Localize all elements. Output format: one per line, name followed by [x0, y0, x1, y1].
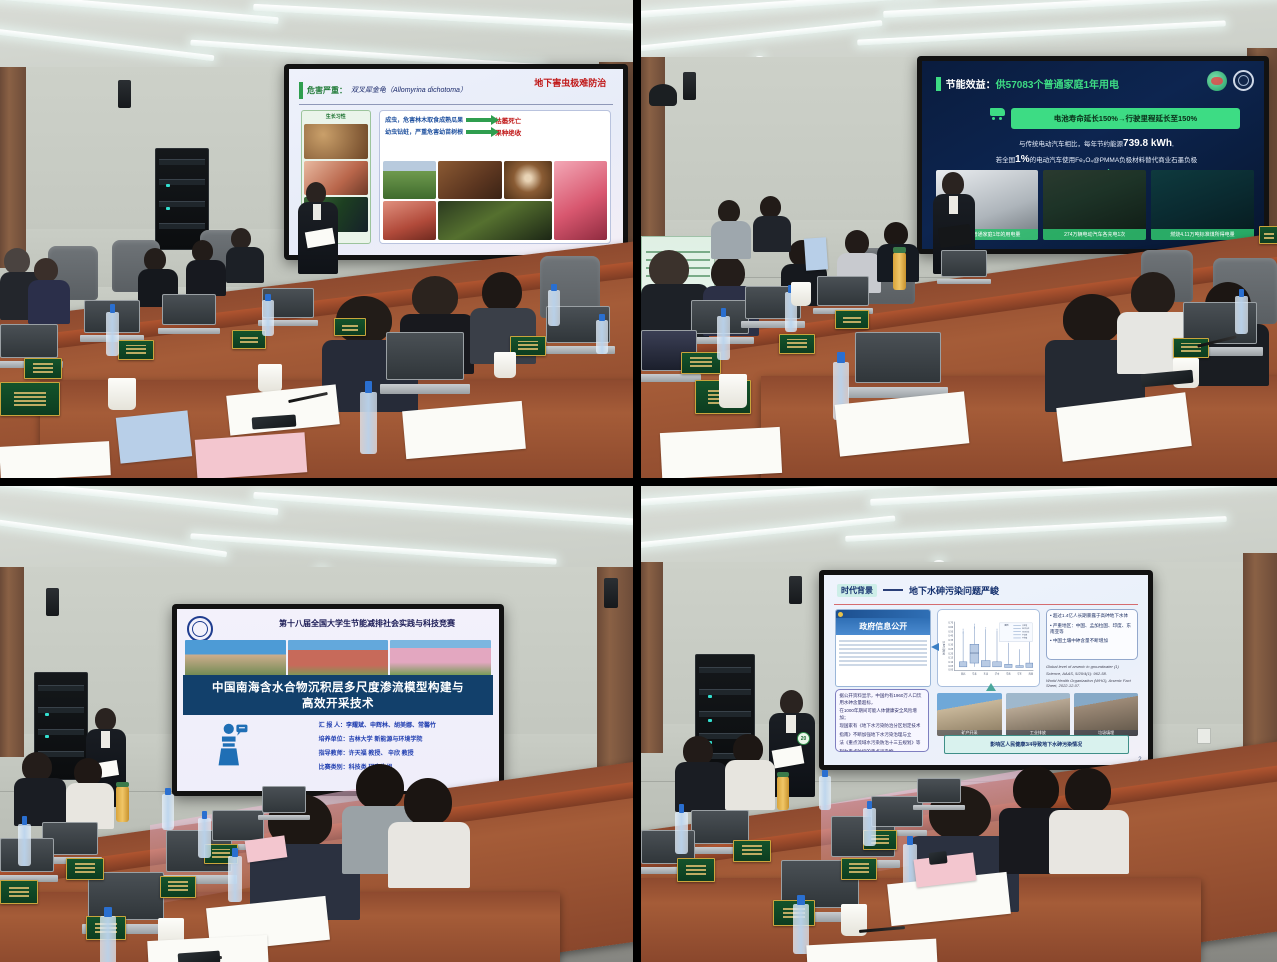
key-claim-pill: 电池寿命延长150%→行驶里程延长至150%: [1011, 108, 1240, 129]
laptop-screen: [871, 796, 923, 827]
svg-text:西南: 西南: [1029, 672, 1034, 676]
body: [1049, 810, 1129, 874]
water-bottle: [360, 392, 377, 454]
photo-larvae-soil: [304, 124, 368, 159]
svg-text:0.70: 0.70: [949, 622, 954, 625]
head: [649, 250, 689, 288]
blue-folder: [804, 237, 828, 270]
nameplate: [160, 876, 196, 898]
slide-header-species: 双叉犀金龟（Allomyrina dichotoma）: [351, 85, 467, 95]
nameplate: [841, 858, 877, 880]
photo-pink-fruit: [554, 161, 607, 240]
slide-header: 时代背景 地下水砷污染问题严峻: [837, 584, 999, 597]
body-line-2-pct: 1%: [1015, 154, 1029, 165]
nameplate: [118, 340, 154, 360]
rack-led: [166, 184, 170, 187]
laptop: [941, 250, 987, 284]
tile-row: 57083个普通家庭1年的用电量 274万辆电动汽车各充电1次 燃烧4.11万吨…: [936, 170, 1254, 240]
svg-text:0.30: 0.30: [949, 644, 954, 647]
photo-roots-damage: [438, 161, 501, 199]
water-bottle: [819, 776, 831, 810]
speaker-at-podium-icon: [216, 722, 250, 768]
collage-panel-top-right: 节能效益：供57083个普通家庭1年用电 电池寿命延长150%→行驶里程延长至1…: [641, 0, 1277, 478]
speaker-box: [118, 80, 131, 108]
shopping-cart-icon: [990, 108, 1008, 120]
presenter-number-badge: 20: [797, 732, 810, 745]
svg-text:华东: 华东: [1018, 672, 1023, 676]
rack-shelf: [699, 667, 750, 673]
head: [711, 256, 745, 290]
head: [404, 778, 452, 826]
text-row: [839, 664, 927, 666]
head: [4, 248, 30, 274]
note-line: 现国家有《地下水污染防治分区划定技术: [839, 723, 925, 730]
campus-photo-row: [185, 640, 491, 676]
body: [725, 760, 775, 810]
laptop: [855, 332, 941, 398]
body-line-2: 若全国1%的电动汽车使用Fe₃O₄@PMMA负极材料替代商业石墨负极: [949, 152, 1243, 168]
svg-text:0.00: 0.00: [949, 669, 954, 672]
policy-note-box: 据公开资料显示，中国约有1960万人口饮用水砷含量超标， 在1000年期间可能人…: [835, 689, 929, 752]
note-line: 指南》不断加强地下水污染治理与立: [839, 732, 925, 739]
wall-switch-plate[interactable]: [1197, 728, 1211, 744]
smartphone: [928, 851, 947, 865]
audience-member: [186, 240, 226, 294]
laptop-screen: [212, 810, 264, 841]
svg-text:华中: 华中: [995, 672, 1000, 676]
head: [74, 758, 102, 786]
body-line-1-pre: 与传统电动汽车相比，每年节约能源: [1019, 141, 1123, 148]
photo-collage: 危害严重： 双叉犀金龟（Allomyrina dichotoma） 地下害虫极难…: [0, 0, 1277, 962]
slide-header-label: 危害严重：: [307, 85, 347, 96]
gov-panel-rows: [836, 635, 930, 671]
rack-shelf: [159, 223, 205, 229]
photo-larva-in-soil: [504, 161, 552, 199]
water-bottle: [198, 818, 211, 858]
laptop-screen: [386, 332, 464, 380]
audience-member: [226, 228, 264, 280]
svg-text:华北: 华北: [973, 672, 978, 676]
tile-coal-smoke: 燃烧4.11万吨标准煤所得电量: [1151, 170, 1254, 240]
photo-grid: [383, 161, 607, 240]
rack-shelf: [699, 689, 750, 695]
key-claim-text: 电池寿命延长150%→行驶里程延长至150%: [1054, 113, 1197, 124]
svg-text:0.10: 0.10: [949, 661, 954, 664]
head: [1131, 272, 1175, 316]
svg-text:75百分位: 75百分位: [1023, 630, 1031, 633]
left-arrow-icon: [931, 643, 939, 651]
reference-item: Science, AAAS, 5/20/4(1): 962-58.: [1046, 671, 1138, 676]
slide-header-text: 地下水砷污染问题严峻: [909, 584, 999, 597]
head: [231, 228, 251, 249]
laptop-base: [913, 805, 964, 810]
paper-cup: [108, 378, 136, 410]
thermos-bottle: [777, 776, 789, 810]
presenter-shirt: [949, 196, 958, 214]
body-line-2-pre: 若全国: [996, 157, 1016, 164]
water-bottle: [548, 290, 560, 326]
government-disclosure-panel: 政府信息公开: [835, 609, 931, 687]
audience-member: [388, 778, 470, 882]
key-points-box: 超过1.4亿人长期暴露于高砷地下水体 严重地区：中国、孟加拉国、印度、东南亚等 …: [1046, 609, 1138, 660]
svg-text:0.25: 0.25: [949, 648, 954, 651]
nameplate: [733, 840, 771, 862]
head: [192, 240, 213, 262]
head: [718, 200, 740, 223]
head: [1063, 294, 1121, 344]
water-bottle: [262, 300, 274, 336]
slide-arsenic-background: 时代背景 地下水砷污染问题严峻 政府信息公开: [824, 575, 1148, 765]
head: [760, 196, 781, 218]
body: [388, 822, 470, 888]
header-accent-bar: [299, 82, 303, 99]
laptop: [817, 276, 869, 314]
collage-panel-top-left: 危害严重： 双叉犀金龟（Allomyrina dichotoma） 地下害虫极难…: [0, 0, 633, 478]
photo-industrial: 工业排放: [1006, 693, 1070, 737]
wood-column: [0, 67, 26, 268]
header-prefix: 节能效益：: [946, 80, 996, 91]
bullet-item: 中国土壤中砷含量不断增加: [1050, 638, 1134, 644]
svg-text:西北: 西北: [961, 672, 966, 676]
audience-member: [753, 196, 791, 250]
svg-text:0.15: 0.15: [949, 657, 954, 660]
laptop-screen: [941, 250, 987, 277]
svg-text:平均值: 平均值: [1023, 637, 1028, 640]
rack-shelf: [699, 711, 750, 717]
bullet-item: 严重地区：中国、孟加拉国、印度、东南亚等: [1050, 623, 1134, 636]
body: [226, 247, 264, 283]
rack-led: [166, 207, 170, 210]
speaker-box: [789, 576, 802, 604]
rack-led: [708, 719, 712, 722]
note-line: 列为重点防控的重点污染物。: [839, 749, 925, 752]
conference-room-scene-3: 第十八届全国大学生节能减排社会实践与科技竞赛 中国南海含水合物沉积层多尺度渗流模…: [0, 486, 633, 962]
header-highlight: 供57083个普通家庭1年用电: [996, 80, 1119, 91]
water-bottle: [717, 316, 730, 360]
documents: [660, 427, 782, 478]
paper-cup: [258, 364, 282, 392]
audience-member: [66, 758, 114, 826]
head: [1065, 768, 1111, 814]
svg-text:0.35: 0.35: [949, 639, 954, 642]
note-line: 法《重点流域水污染防治十三五规划》等: [839, 740, 925, 747]
damage-line-2-text: 幼虫钻蛀，严重危害幼苗树根: [385, 127, 463, 136]
slide-header: 节能效益：供57083个普通家庭1年用电: [936, 76, 1119, 91]
photo-peanut-roots: [438, 201, 552, 239]
damage-line-2: 幼虫钻蛀，严重危害幼苗树根 果种绝收: [385, 127, 607, 137]
wood-column: [1243, 553, 1277, 753]
nameplate: [334, 318, 366, 336]
reference-list: Global level of arsenic in groundwater (…: [1046, 664, 1138, 690]
presenter-head: [942, 172, 964, 196]
audience-member: [725, 734, 775, 806]
body-line-2-mid: 的电动汽车使用Fe₃O₄@PMMA负极材料替代商业石墨负极: [1030, 157, 1198, 164]
rack-led: [45, 713, 49, 716]
nameplate: [681, 352, 721, 374]
habit-panel-caption: 生长习性: [304, 113, 368, 125]
audience-member: [28, 258, 70, 322]
university-seal-icon: [187, 616, 213, 642]
svg-text:0.20: 0.20: [949, 652, 954, 655]
body: [753, 216, 791, 252]
audience-member: [14, 752, 66, 822]
note-line: 在1000年期间可能人体健康安全风险增加；: [839, 708, 925, 721]
info-presenters: 汇 报 人：李耀斌、申辉林、胡美娜、常馨竹: [319, 720, 490, 729]
head: [412, 276, 458, 318]
header-divider: [834, 604, 1139, 605]
panel-topbar: [836, 610, 930, 618]
svg-text:中位数: 中位数: [1023, 634, 1028, 637]
body: [711, 221, 751, 259]
bottom-summary-text: 影响区人民健康3/4导致地下水砷污染情况: [990, 741, 1082, 748]
head: [144, 248, 166, 271]
university-seal-icon: [1233, 70, 1254, 91]
paper-cup: [719, 374, 747, 408]
presenter-head: [306, 182, 326, 204]
svg-text:华南: 华南: [1006, 672, 1011, 676]
audience-member: [675, 736, 727, 808]
presenter-head: [780, 690, 803, 715]
slide-header-right: 地下害虫极难防治: [534, 76, 606, 89]
tile-ev-charging: 274万辆电动汽车各充电1次: [1043, 170, 1146, 240]
thermos-bottle: [893, 252, 906, 290]
text-row: [839, 640, 927, 642]
arrow-icon: [466, 130, 492, 134]
pollution-photo-row: 矿产开采 工业排放 垃圾填埋: [937, 693, 1138, 737]
header-divider: [299, 104, 613, 105]
presenter-shirt: [313, 204, 321, 220]
photo-landfill: 垃圾填埋: [1074, 693, 1138, 737]
water-bottle: [18, 824, 31, 866]
text-row: [839, 660, 927, 662]
nameplate: [0, 382, 60, 416]
presentation-screen: 第十八届全国大学生节能减排社会实践与科技竞赛 中国南海含水合物沉积层多尺度渗流模…: [172, 604, 504, 796]
text-row: [839, 652, 927, 654]
green-ribbon-logo-icon: [1207, 71, 1227, 91]
nameplate: [232, 330, 266, 349]
svg-text:砷浓度 (μg/L): 砷浓度 (μg/L): [942, 641, 946, 655]
thermos-bottle: [116, 786, 129, 822]
damage-line-1: 成虫，危害林木取食成熟瓜果 枯萎死亡: [385, 115, 607, 125]
water-bottle: [106, 312, 119, 356]
laptop-base: [641, 374, 701, 382]
nameplate: [835, 310, 869, 329]
laptop: [162, 294, 216, 334]
documents: [0, 441, 111, 478]
laptop-base: [380, 384, 470, 394]
svg-text:0.40: 0.40: [949, 635, 954, 638]
reference-item: World Health Organization (WHO), Arsenic…: [1046, 678, 1138, 688]
head: [884, 222, 908, 246]
wood-column: [0, 567, 24, 757]
head: [845, 230, 869, 255]
laptop-screen: [262, 786, 306, 813]
body-line-1-value: 739.8 kWh: [1123, 138, 1172, 149]
rack-shelf: [159, 159, 205, 165]
svg-text:东北: 东北: [984, 672, 989, 676]
text-row: [839, 656, 927, 658]
body-line-1: 与传统电动汽车相比，每年节约能源739.8 kWh,: [949, 136, 1243, 152]
speaker-box: [604, 578, 618, 608]
body: [186, 260, 226, 296]
nameplate: [1173, 338, 1209, 358]
rack-shelf: [38, 685, 84, 691]
text-row: [839, 644, 927, 646]
water-bottle: [596, 320, 608, 354]
water-bottle: [675, 812, 688, 854]
paper-cup: [494, 352, 516, 378]
laptop-screen: [917, 778, 961, 803]
conference-room-scene-2: 节能效益：供57083个普通家庭1年用电 电池寿命延长150%→行驶里程延长至1…: [641, 0, 1277, 478]
blue-handout: [116, 410, 192, 463]
laptop-screen: [0, 324, 58, 358]
slide-project-title: 第十八届全国大学生节能减排社会实践与科技竞赛 中国南海含水合物沉积层多尺度渗流模…: [177, 609, 499, 791]
water-bottle: [100, 916, 116, 962]
water-bottle: [228, 856, 242, 902]
water-bottle: [162, 794, 174, 830]
water-bottle: [863, 808, 876, 846]
ptz-camera: [649, 84, 677, 106]
conference-room-scene-1: 危害严重： 双叉犀金龟（Allomyrina dichotoma） 地下害虫极难…: [0, 0, 633, 478]
presenter-head: [95, 708, 116, 731]
rack-led: [708, 695, 712, 698]
paper-cup: [791, 282, 811, 306]
body: [28, 280, 70, 324]
conference-room-scene-4: 时代背景 地下水砷污染问题严峻 政府信息公开: [641, 486, 1277, 962]
campus-photo-building: [185, 640, 286, 676]
speaker-box: [46, 588, 59, 616]
presenter: [296, 182, 340, 278]
info-advisors: 指导教师：许天福 教授、 辛欣 教授: [319, 748, 490, 757]
nameplate: [779, 334, 815, 354]
svg-text:0.50: 0.50: [949, 630, 954, 633]
arsenic-boxplot-chart: 0.70 0.60 0.50 0.40 0.35 0.30 0.25 0.20 …: [937, 609, 1039, 687]
slide-tag: 时代背景: [837, 584, 877, 597]
laptop-base: [158, 328, 221, 334]
svg-text:0.05: 0.05: [949, 665, 954, 668]
photo-red-damage: [383, 201, 436, 239]
slide-header-text: 节能效益：供57083个普通家庭1年用电: [946, 76, 1119, 91]
laptop-screen: [817, 276, 869, 306]
text-row: [839, 648, 927, 650]
presenter-shirt: [101, 731, 110, 748]
title-band: 中国南海含水合物沉积层多尺度渗流模型构建与 高效开采技术: [183, 675, 492, 715]
up-arrow-icon: [986, 683, 996, 691]
svg-text:异常值: 异常值: [1023, 624, 1028, 627]
presenter-shirt: [786, 715, 796, 733]
reference-item: Global level of arsenic in groundwater (…: [1046, 664, 1138, 669]
damage-panel: 成虫，危害林木取食成熟瓜果 枯萎死亡 幼虫钻蛀，严重危害幼苗树根 果种绝收: [379, 110, 611, 244]
svg-text:95百分位: 95百分位: [1023, 627, 1031, 630]
nameplate: [0, 880, 38, 904]
nameplate: [66, 858, 104, 880]
pink-paper: [195, 432, 308, 478]
collage-panel-bottom-left: 第十八届全国大学生节能减排社会实践与科技竞赛 中国南海含水合物沉积层多尺度渗流模…: [0, 486, 633, 962]
laptop: [386, 332, 464, 394]
smartphone: [178, 951, 221, 962]
logo-row: [1207, 70, 1254, 91]
rack-led: [45, 735, 49, 738]
info-institution: 培养单位：吉林大学 新能源与环境学院: [319, 734, 490, 743]
title-line-1: 中国南海含水合物沉积层多尺度渗流模型构建与: [212, 679, 464, 695]
note-line: 据公开资料显示，中国约有1960万人口饮用水砷含量超标，: [839, 693, 925, 706]
laptop: [262, 786, 306, 820]
header-dash: [883, 589, 903, 591]
water-bottle: [1235, 296, 1248, 334]
tile-caption: 274万辆电动汽车各充电1次: [1043, 229, 1146, 240]
head: [34, 258, 58, 282]
presentation-screen: 时代背景 地下水砷污染问题严峻 政府信息公开: [819, 570, 1153, 770]
damage-line-1-text: 成虫，危害林木取食成熟瓜果: [385, 115, 463, 124]
bottom-summary-strip: 影响区人民健康3/4导致地下水砷污染情况: [944, 735, 1129, 754]
laptop-base: [937, 279, 990, 284]
nameplate: [24, 358, 62, 379]
competition-name: 第十八届全国大学生节能减排社会实践与科技竞赛: [248, 618, 486, 629]
nameplate: [677, 858, 715, 882]
laptop-screen: [855, 332, 941, 383]
header-accent-bar: [936, 77, 941, 91]
laptop-base: [258, 815, 309, 820]
campus-photo-cherry-blossom: [390, 640, 491, 676]
audience-member: [1049, 768, 1129, 870]
photo-mining: 矿产开采: [937, 693, 1001, 737]
photo-field: [383, 161, 436, 199]
laptop-screen: [162, 294, 216, 325]
collage-panel-bottom-right: 时代背景 地下水砷污染问题严峻 政府信息公开: [641, 486, 1277, 962]
title-line-2: 高效开采技术: [302, 695, 374, 711]
nameplate: [1259, 226, 1277, 244]
audience-member: [711, 200, 751, 256]
gov-panel-title: 政府信息公开: [836, 618, 930, 635]
laptop: [917, 778, 961, 810]
wood-column: [641, 562, 663, 752]
arrow-icon: [466, 118, 492, 122]
head: [482, 272, 522, 312]
campus-photo-main-gate: [288, 640, 389, 676]
bullet-item: 超过1.4亿人长期暴露于高砷地下水体: [1050, 613, 1134, 619]
svg-text:0.60: 0.60: [949, 626, 954, 629]
speaker-box: [683, 72, 696, 100]
